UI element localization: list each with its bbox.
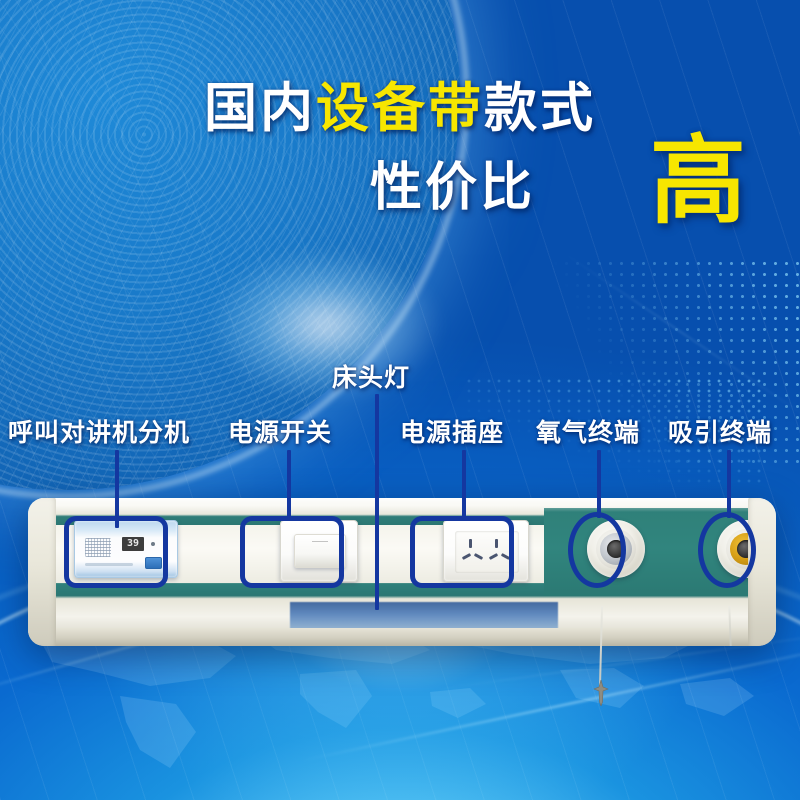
callout-label-suction-terminal: 吸引终端 bbox=[668, 413, 772, 449]
callout-label-nurse-call: 呼叫对讲机分机 bbox=[8, 413, 190, 449]
callout-label-bed-lamp: 床头灯 bbox=[332, 358, 410, 394]
callout-label-power-socket: 电源插座 bbox=[400, 413, 504, 449]
callout-label-power-switch: 电源开关 bbox=[228, 413, 332, 449]
callout-labels: 呼叫对讲机分机 电源开关 床头灯 电源插座 氧气终端 吸引终端 bbox=[0, 0, 800, 800]
product-banner: 国内设备带款式 性价比 高 呼叫对讲机分机 电源开关 床头灯 电源插座 氧气终端… bbox=[0, 0, 800, 800]
callout-label-oxygen-terminal: 氧气终端 bbox=[536, 413, 640, 449]
